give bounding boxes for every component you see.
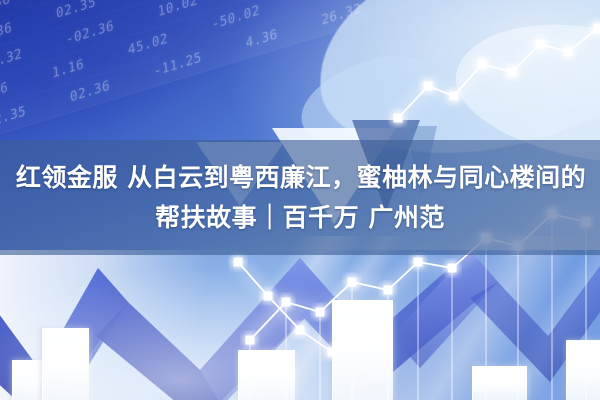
page-title-line-1: 红领金服 从白云到粤西廉江，蜜柚林与同心楼间的 bbox=[14, 159, 586, 197]
chart-node bbox=[384, 286, 393, 295]
chart-node bbox=[328, 348, 337, 357]
chart-node bbox=[296, 326, 305, 335]
chart-series bbox=[394, 24, 600, 123]
chart-node bbox=[394, 114, 403, 123]
chart-node bbox=[448, 264, 457, 273]
chart-node bbox=[264, 292, 273, 301]
chart-node bbox=[414, 258, 423, 267]
chart-node bbox=[348, 278, 357, 287]
chart-line bbox=[398, 28, 598, 118]
chart-node bbox=[478, 60, 487, 69]
chart-node bbox=[282, 298, 291, 307]
page-title-line-2: 帮扶故事｜百千万 广州范 bbox=[155, 199, 445, 237]
chart-node bbox=[246, 336, 255, 345]
chart-node bbox=[536, 40, 545, 49]
chart-node bbox=[450, 92, 459, 101]
chart-node bbox=[594, 24, 600, 33]
title-overlay-band: 红领金服 从白云到粤西廉江，蜜柚林与同心楼间的 帮扶故事｜百千万 广州范 bbox=[0, 140, 600, 255]
chart-node bbox=[234, 258, 243, 267]
banner-image: 21.1545.024.3610.0202.3621.1545.024.3610… bbox=[0, 0, 600, 400]
chart-node bbox=[424, 82, 433, 91]
chart-node bbox=[564, 48, 573, 57]
chart-node bbox=[316, 308, 325, 317]
chart-line-glow bbox=[398, 28, 598, 118]
chart-node bbox=[508, 68, 517, 77]
